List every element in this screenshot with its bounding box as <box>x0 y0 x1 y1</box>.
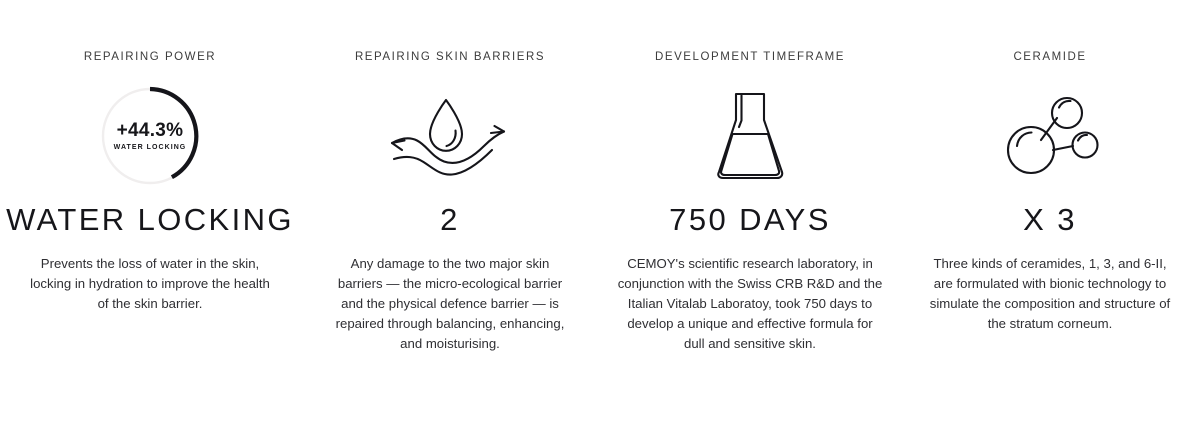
stat-heading: 2 <box>440 204 460 237</box>
molecule-icon <box>995 88 1105 184</box>
gauge-value: +44.3% <box>117 121 184 140</box>
description-text: Three kinds of ceramides, 1, 3, and 6-II… <box>924 254 1176 334</box>
description-text: CEMOY's scientific research laboratory, … <box>616 254 884 354</box>
gauge-center: +44.3% WATER LOCKING <box>114 121 187 151</box>
eyebrow-label: REPAIRING POWER <box>84 52 216 64</box>
eyebrow-label: REPAIRING SKIN BARRIERS <box>355 52 545 64</box>
icon-slot: +44.3% WATER LOCKING <box>98 82 202 190</box>
benefit-column-repairing-skin-barriers: REPAIRING SKIN BARRIERS 2 Any damage to … <box>300 52 600 354</box>
water-locking-gauge-icon: +44.3% WATER LOCKING <box>98 84 202 188</box>
erlenmeyer-flask-icon <box>713 90 787 182</box>
benefit-column-ceramide: CERAMIDE X 3 Three kinds of ceramides, 1… <box>900 52 1200 334</box>
gauge-caption: WATER LOCKING <box>114 144 187 151</box>
stat-heading: WATER LOCKING <box>6 204 294 237</box>
benefits-grid: REPAIRING POWER +44.3% WATER LOCKING WAT… <box>0 0 1200 422</box>
icon-slot <box>384 82 516 190</box>
icon-slot <box>713 82 787 190</box>
description-text: Prevents the loss of water in the skin, … <box>24 254 276 314</box>
stat-heading: 750 DAYS <box>669 204 831 237</box>
icon-slot <box>995 82 1105 190</box>
eyebrow-label: CERAMIDE <box>1013 52 1086 64</box>
benefit-column-repairing-power: REPAIRING POWER +44.3% WATER LOCKING WAT… <box>0 52 300 314</box>
benefit-column-development-timeframe: DEVELOPMENT TIMEFRAME 750 DAYS CEMOY's s… <box>600 52 900 354</box>
description-text: Any damage to the two major skin barrier… <box>332 254 568 354</box>
water-drop-skin-layers-icon <box>384 88 516 184</box>
stat-heading: X 3 <box>1023 204 1077 237</box>
eyebrow-label: DEVELOPMENT TIMEFRAME <box>655 52 845 64</box>
